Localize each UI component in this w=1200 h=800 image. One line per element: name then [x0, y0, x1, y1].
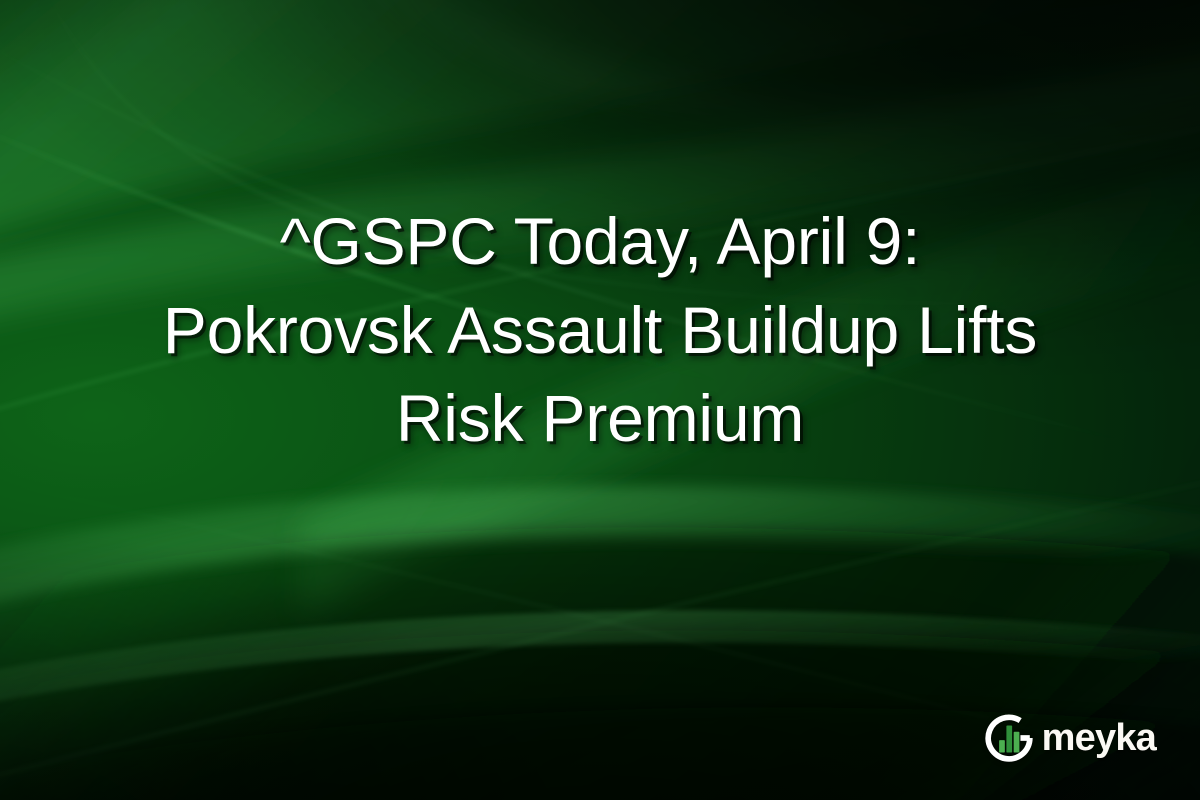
headline-line-3: Risk Premium — [163, 374, 1037, 462]
headline-container: ^GSPC Today, April 9: Pokrovsk Assault B… — [0, 0, 1200, 660]
brand-wordmark: meyka — [1042, 719, 1156, 757]
headline-line-1: ^GSPC Today, April 9: — [163, 197, 1037, 285]
headline-line-2: Pokrovsk Assault Buildup Lifts — [163, 286, 1037, 374]
page-title: ^GSPC Today, April 9: Pokrovsk Assault B… — [163, 197, 1037, 462]
social-card: ^GSPC Today, April 9: Pokrovsk Assault B… — [0, 0, 1200, 800]
meyka-bar-chart-ring-icon — [983, 712, 1035, 764]
brand-logo[interactable]: meyka — [983, 712, 1156, 764]
